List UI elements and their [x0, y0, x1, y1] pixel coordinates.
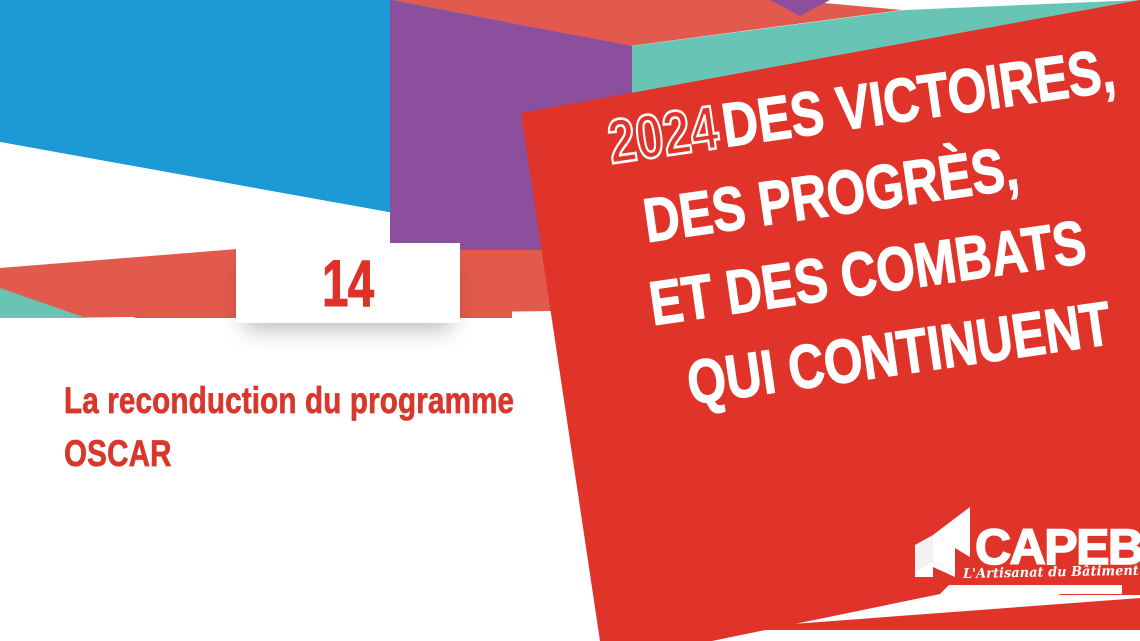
- headline-block: 2024DES VICTOIRES, DES PROGRÈS, ET DES C…: [604, 38, 1140, 442]
- capeb-logo: CAPEB L'Artisanat du Bâtiment: [913, 503, 1113, 598]
- slide-root: 14 La reconduction du programme OSCAR 20…: [0, 0, 1140, 641]
- headline-year: 2024: [604, 93, 723, 177]
- capeb-tagline: L'Artisanat du Bâtiment: [963, 563, 1139, 582]
- capeb-underbar: [940, 585, 1122, 594]
- page-title-line-2: OSCAR: [64, 428, 464, 481]
- page-title: La reconduction du programme OSCAR: [64, 375, 564, 480]
- chapter-number: 14: [322, 250, 373, 316]
- page-title-line-1: La reconduction du programme: [64, 375, 464, 428]
- chapter-number-badge: 14: [236, 243, 460, 323]
